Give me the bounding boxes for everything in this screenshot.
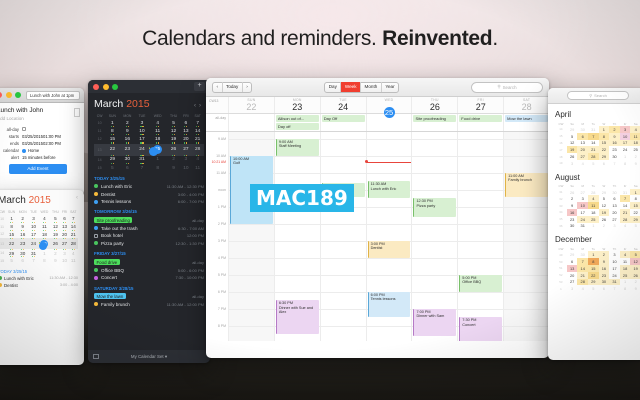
day-cell[interactable]: 1 — [620, 153, 631, 160]
day-cell[interactable]: 16 — [17, 231, 29, 239]
day-column[interactable]: 11:30 AMLunch with Eric3:00 PMDentist6:0… — [366, 132, 412, 341]
add-event-icon[interactable]: + — [194, 82, 205, 91]
day-cell[interactable]: 3 — [567, 285, 578, 292]
day-columns[interactable]: 10:00 AMGolf9:00 AMStaff Meeting6:30 PMD… — [228, 132, 549, 341]
day-cell[interactable]: 7 — [609, 285, 620, 292]
today-button[interactable]: Today — [222, 82, 242, 92]
day-cell[interactable]: 26 — [50, 238, 60, 249]
day-cell[interactable]: 13 — [609, 202, 620, 209]
day-cell[interactable]: 18 — [588, 209, 599, 216]
day-cell[interactable]: 24 — [609, 272, 620, 279]
list-item[interactable]: Take out the trash6:30 - 7:00 AM — [88, 225, 210, 233]
year-month-grid[interactable]: CWSuMTuWThFrSa49293012345506789101112511… — [555, 246, 640, 292]
list-item[interactable]: Office BBQ5:00 - 6:00 PM — [88, 266, 210, 274]
end-date-value[interactable]: 03/25/2015 — [22, 141, 43, 146]
day-cell[interactable]: 20 — [180, 135, 191, 143]
day-cell[interactable]: 31 — [588, 126, 599, 133]
allday-cell[interactable]: Food drive — [457, 114, 503, 131]
allday-event[interactable]: Day Off — [322, 115, 365, 122]
day-cell[interactable]: 22 — [599, 146, 610, 153]
day-cell[interactable]: 23 — [119, 144, 135, 156]
year-month-grid[interactable]: CWSuMTuWThFrSa14293031123415567891011161… — [555, 121, 640, 167]
allday-cell[interactable]: Day Off — [320, 114, 366, 131]
year-search-input[interactable]: ⚲ Search — [567, 91, 629, 100]
day-cell[interactable]: 31 — [135, 156, 149, 164]
day-cell[interactable]: 30 — [609, 189, 620, 196]
day-cell[interactable]: 10 — [180, 164, 191, 172]
day-cell[interactable]: 15 — [105, 135, 119, 143]
list-item[interactable]: Concert7:30 - 10:00 PM — [88, 274, 210, 282]
day-cell[interactable]: 15 — [588, 265, 599, 272]
main-calendar-window[interactable]: ‹ Today › DayWeekMonthYear ⚲ Search CW13… — [206, 78, 549, 358]
view-tab-month[interactable]: Month — [360, 82, 381, 92]
calendar-event[interactable]: 6:30 PMDinner with Sue and Alex — [276, 300, 319, 334]
allday-event[interactable]: Day off — [276, 123, 319, 130]
day-cell[interactable]: 8 — [149, 164, 167, 172]
mini-month-grid[interactable]: CWSUNMONTUEWEDTHUFRISAT10123456711891011… — [0, 209, 78, 265]
list-item[interactable]: Lunch with Eric 11:30 AM - 12:30 — [0, 275, 84, 282]
mini-calendar-window[interactable]: March 2015 ‹ CWSUNMONTUEWEDTHUFRISAT1012… — [0, 190, 84, 365]
dark-calendar-window[interactable]: + March 2015 ‹› CWSUNMONTUEWEDTHUFRISAT1… — [88, 80, 210, 363]
add-event-button[interactable]: Add Event — [9, 164, 67, 174]
calendar-event[interactable]: 5:00 PMOffice BBQ — [459, 275, 502, 292]
day-cell[interactable]: 26 — [567, 189, 578, 196]
all-day-row[interactable]: all-dayAllison out of...Day offDay OffSi… — [206, 114, 549, 132]
field-alert[interactable]: alert 15 minutes before — [0, 155, 79, 160]
minimize-icon[interactable] — [6, 92, 12, 98]
day-cell[interactable]: 21 — [588, 146, 599, 153]
day-cell[interactable]: 19 — [167, 135, 181, 143]
day-cell[interactable]: 29 — [105, 156, 119, 164]
day-cell[interactable]: 17 — [577, 209, 588, 216]
day-cell[interactable]: 29 — [588, 279, 599, 286]
calendar-event[interactable]: 11:00 AMFamily brunch — [505, 173, 548, 197]
day-cell[interactable]: 11 — [588, 202, 599, 209]
allday-cell[interactable] — [228, 114, 274, 131]
day-cell[interactable]: 11 — [630, 133, 640, 140]
day-cell[interactable]: 2 — [630, 153, 640, 160]
day-cell[interactable]: 5 — [630, 251, 640, 258]
day-cell[interactable]: 14 — [191, 127, 204, 135]
maximize-icon[interactable] — [15, 92, 21, 98]
day-cell[interactable]: 2 — [50, 249, 60, 257]
day-cell[interactable]: 11 — [69, 257, 78, 265]
close-icon[interactable] — [0, 92, 2, 98]
day-cell[interactable]: 16 — [599, 265, 610, 272]
day-cell[interactable]: 25 — [588, 216, 599, 223]
day-cell[interactable]: 3 — [29, 215, 39, 223]
day-cell[interactable]: 12 — [167, 127, 181, 135]
day-cell[interactable]: 9 — [17, 223, 29, 231]
allday-cell[interactable] — [366, 114, 412, 131]
day-cell[interactable]: 25 — [620, 272, 631, 279]
day-cell[interactable]: 22 — [6, 238, 17, 249]
today-navigation-group[interactable]: ‹ Today › — [212, 82, 252, 93]
day-cell[interactable]: 21 — [69, 231, 78, 239]
day-cell[interactable]: 10 — [29, 223, 39, 231]
quick-event-window[interactable]: Lunch with John at 1pm Lunch with John A… — [0, 88, 84, 196]
day-cell[interactable]: 17 — [135, 135, 149, 143]
calendar-event[interactable]: 7:30 PMConcert — [459, 317, 502, 341]
day-cell[interactable]: 14 — [69, 223, 78, 231]
view-tab-day[interactable]: Day — [325, 82, 340, 92]
day-cell[interactable]: 10 — [61, 257, 69, 265]
day-cell[interactable]: 2 — [17, 215, 29, 223]
day-cell[interactable]: 21 — [620, 209, 631, 216]
day-cell[interactable]: 6 — [577, 133, 588, 140]
day-column[interactable]: 11:00 AMFamily brunch — [503, 132, 549, 341]
day-column[interactable]: 5:00 PMOffice BBQ7:30 PMConcert — [457, 132, 503, 341]
search-input[interactable]: ⚲ Search — [471, 82, 543, 93]
day-cell[interactable]: 8 — [39, 257, 51, 265]
day-cell[interactable]: 25 — [149, 144, 167, 156]
day-cell[interactable]: 15 — [599, 140, 610, 147]
day-cell[interactable]: 6 — [17, 257, 29, 265]
day-cell[interactable]: 27 — [609, 216, 620, 223]
day-cell[interactable]: 3 — [567, 160, 578, 167]
day-cell[interactable]: 24 — [29, 238, 39, 249]
day-cell[interactable]: 3 — [577, 195, 588, 202]
day-cell[interactable]: 4 — [69, 249, 78, 257]
day-cell[interactable]: 4 — [577, 285, 588, 292]
day-cell[interactable]: 9 — [630, 160, 640, 167]
calendar-event[interactable]: 9:00 AMStaff Meeting — [276, 139, 319, 156]
day-cell[interactable]: 4 — [191, 156, 204, 164]
maximize-icon[interactable] — [112, 84, 118, 90]
day-cell[interactable]: 28 — [620, 216, 631, 223]
day-cell[interactable]: 30 — [577, 126, 588, 133]
day-cell[interactable]: 4 — [577, 160, 588, 167]
day-cell[interactable]: 23 — [599, 272, 610, 279]
day-cell[interactable]: 30 — [119, 156, 135, 164]
day-cell[interactable]: 18 — [149, 135, 167, 143]
day-cell[interactable]: 21 — [577, 272, 588, 279]
day-cell[interactable]: 9 — [609, 133, 620, 140]
day-cell[interactable]: 22 — [105, 144, 119, 156]
end-time-value[interactable]: 02:00 PM — [43, 141, 61, 146]
day-cell[interactable]: 1 — [6, 215, 17, 223]
year-months-list[interactable]: April CWSuMTuWThFrSa14293031123415567891… — [548, 104, 640, 292]
day-cell[interactable]: 9 — [167, 164, 181, 172]
day-cell[interactable]: 1 — [620, 279, 631, 286]
next-button[interactable]: › — [242, 82, 252, 92]
day-cell[interactable]: 5 — [588, 160, 599, 167]
day-cell[interactable]: 9 — [599, 258, 610, 265]
day-cell[interactable]: 5 — [599, 195, 610, 202]
day-cell[interactable]: 2 — [609, 126, 620, 133]
day-cell[interactable]: 8 — [105, 127, 119, 135]
day-cell[interactable]: 5 — [630, 223, 640, 230]
day-cell[interactable]: 1 — [588, 223, 599, 230]
day-cell[interactable]: 12 — [599, 202, 610, 209]
day-cell[interactable]: 31 — [620, 189, 631, 196]
day-header-cell[interactable]: MON 23 — [274, 97, 320, 113]
day-cell[interactable]: 29 — [567, 126, 578, 133]
day-cell[interactable]: 29 — [567, 251, 578, 258]
day-cell[interactable]: 5 — [567, 133, 578, 140]
day-cell[interactable]: 7 — [29, 257, 39, 265]
day-cell[interactable]: 23 — [567, 216, 578, 223]
day-cell[interactable]: 11 — [191, 164, 204, 172]
day-cell[interactable]: 10 — [620, 133, 631, 140]
day-cell[interactable]: 31 — [29, 249, 39, 257]
day-cell[interactable]: 8 — [599, 133, 610, 140]
day-cell[interactable]: 8 — [620, 285, 631, 292]
day-cell[interactable]: 2 — [599, 251, 610, 258]
day-header-cell[interactable]: SUN 22 — [228, 97, 274, 113]
day-cell[interactable]: 4 — [39, 215, 51, 223]
day-cell[interactable]: 16 — [609, 140, 620, 147]
allday-checkbox[interactable] — [22, 127, 26, 131]
day-cell[interactable]: 4 — [630, 126, 640, 133]
list-item[interactable]: Pizza party12:30 - 1:30 PM — [88, 240, 210, 248]
day-cell[interactable]: 7 — [588, 133, 599, 140]
day-cell[interactable]: 1 — [105, 119, 119, 127]
day-cell[interactable]: 5 — [167, 119, 181, 127]
day-cell[interactable]: 3 — [609, 251, 620, 258]
calendar-set-icon[interactable] — [93, 354, 99, 359]
day-cell[interactable]: 16 — [567, 209, 578, 216]
day-cell[interactable]: 6 — [609, 195, 620, 202]
day-cell[interactable]: 9 — [119, 127, 135, 135]
day-cell[interactable]: 12 — [50, 223, 60, 231]
day-cell[interactable]: 16 — [119, 135, 135, 143]
day-cell[interactable]: 23 — [609, 146, 620, 153]
quick-event-input[interactable]: Lunch with John at 1pm — [26, 91, 80, 100]
day-cell[interactable]: 2 — [567, 195, 578, 202]
day-cell[interactable]: 13 — [577, 140, 588, 147]
day-cell[interactable]: 5 — [105, 164, 119, 172]
day-cell[interactable]: 25 — [630, 146, 640, 153]
month-nav-arrows[interactable]: ‹› — [194, 103, 204, 109]
year-view-window[interactable]: ⚲ Search April CWSuMTuWThFrSa14293031123… — [548, 88, 640, 360]
day-cell[interactable]: 19 — [50, 231, 60, 239]
day-cell[interactable]: 7 — [577, 258, 588, 265]
day-cell[interactable]: 11 — [39, 223, 51, 231]
resize-handle-icon[interactable] — [74, 108, 80, 117]
day-cell[interactable]: 5 — [50, 215, 60, 223]
day-cell[interactable]: 20 — [567, 272, 578, 279]
alert-value[interactable]: 15 minutes before — [22, 155, 56, 160]
day-cell[interactable]: 24 — [135, 144, 149, 156]
day-cell[interactable]: 30 — [577, 251, 588, 258]
day-cell[interactable]: 24 — [577, 216, 588, 223]
day-cell[interactable]: 7 — [620, 195, 631, 202]
allday-event[interactable]: Mow the lawn — [505, 115, 548, 122]
view-tab-year[interactable]: Year — [381, 82, 398, 92]
day-cell[interactable]: 15 — [630, 202, 640, 209]
day-cell[interactable]: 13 — [61, 223, 69, 231]
start-date-value[interactable]: 03/25/2015 — [22, 134, 43, 139]
field-starts[interactable]: starts 03/25/2015 01:00 PM — [0, 134, 79, 139]
day-cell[interactable]: 29 — [6, 249, 17, 257]
day-cell[interactable]: 28 — [588, 189, 599, 196]
day-column[interactable]: 9:00 AMStaff Meeting6:30 PMDinner with S… — [274, 132, 320, 341]
day-cell[interactable]: 14 — [620, 202, 631, 209]
day-cell[interactable]: 26 — [167, 144, 181, 156]
day-cell[interactable]: 9 — [50, 257, 60, 265]
day-cell[interactable]: 13 — [180, 127, 191, 135]
list-item[interactable]: Dentist 3:00 - 4:00 — [0, 282, 84, 289]
prev-button[interactable]: ‹ — [213, 82, 222, 92]
day-cell[interactable]: 13 — [567, 265, 578, 272]
day-cell[interactable]: 1 — [149, 156, 167, 164]
day-column[interactable]: Interview with... — [320, 132, 366, 341]
allday-cell[interactable]: Allison out of...Day off — [274, 114, 320, 131]
day-cell[interactable]: 2 — [167, 156, 181, 164]
day-cell[interactable]: 19 — [599, 209, 610, 216]
allday-event[interactable]: Food drive — [459, 115, 502, 122]
day-cell[interactable]: 31 — [577, 223, 588, 230]
field-ends[interactable]: ends 03/25/2015 02:00 PM — [0, 141, 79, 146]
day-cell[interactable]: 3 — [180, 156, 191, 164]
day-cell[interactable]: 20 — [61, 231, 69, 239]
day-cell[interactable]: 4 — [149, 119, 167, 127]
day-cell[interactable]: 6 — [180, 119, 191, 127]
calendar-event[interactable]: 6:00 PMTennis lessons — [368, 292, 411, 317]
minimize-icon[interactable] — [103, 84, 109, 90]
view-tab-week[interactable]: Week — [340, 82, 360, 92]
day-cell[interactable]: 1 — [39, 249, 51, 257]
calendar-event[interactable]: 12:30 PMPizza party — [413, 198, 456, 217]
day-cell[interactable]: 26 — [567, 153, 578, 160]
day-cell[interactable]: 27 — [577, 153, 588, 160]
close-icon[interactable] — [93, 84, 99, 90]
day-cell[interactable]: 21 — [191, 135, 204, 143]
day-cell[interactable]: 17 — [29, 231, 39, 239]
day-cell[interactable]: 20 — [609, 209, 620, 216]
day-cell[interactable]: 3 — [609, 223, 620, 230]
day-cell[interactable]: 9 — [567, 202, 578, 209]
day-cell[interactable]: 30 — [567, 223, 578, 230]
day-header-cell[interactable]: TUE 24 — [320, 97, 366, 113]
day-column[interactable]: 10:00 AMGolf — [228, 132, 274, 341]
day-column[interactable]: 12:30 PMPizza party7:00 PMDinner with Sa… — [411, 132, 457, 341]
day-cell[interactable]: 19 — [567, 146, 578, 153]
day-cell[interactable]: 28 — [577, 279, 588, 286]
day-cell[interactable]: 18 — [39, 231, 51, 239]
day-cell[interactable]: 28 — [588, 153, 599, 160]
window-controls[interactable] — [93, 84, 118, 90]
day-cell[interactable]: 6 — [567, 258, 578, 265]
day-cell[interactable]: 22 — [630, 209, 640, 216]
day-cell[interactable]: 17 — [609, 265, 620, 272]
day-cell[interactable]: 4 — [620, 251, 631, 258]
day-cell[interactable]: 6 — [599, 285, 610, 292]
day-header-cell[interactable]: FRI 27 — [457, 97, 503, 113]
day-cell[interactable]: 6 — [599, 160, 610, 167]
list-item[interactable]: Family brunch11:30 AM - 12:00 PM — [88, 301, 210, 309]
day-header-cell[interactable]: WED 25 — [366, 97, 412, 113]
day-cell[interactable]: 30 — [599, 279, 610, 286]
day-cell[interactable]: 24 — [620, 146, 631, 153]
day-cell[interactable]: 27 — [577, 189, 588, 196]
view-switcher[interactable]: DayWeekMonthYear — [324, 82, 399, 93]
day-cell[interactable]: 27 — [180, 144, 191, 156]
day-header-cell[interactable]: SAT 28 — [503, 97, 549, 113]
day-cell[interactable]: 2 — [599, 223, 610, 230]
calendar-event[interactable]: 3:00 PMDentist — [368, 241, 411, 258]
day-cell[interactable]: 22 — [588, 272, 599, 279]
list-item[interactable]: Mow the lawnall-day — [88, 292, 210, 301]
day-cell[interactable]: 28 — [191, 144, 204, 156]
day-cell[interactable]: 3 — [620, 126, 631, 133]
day-cell[interactable]: 6 — [61, 215, 69, 223]
day-cell[interactable]: 26 — [630, 272, 640, 279]
day-cell[interactable]: 23 — [17, 238, 29, 249]
day-cell[interactable]: 10 — [135, 127, 149, 135]
year-month-grid[interactable]: CWSuMTuWThFrSa31262728293031132234567833… — [555, 184, 640, 230]
day-cell[interactable]: 1 — [599, 126, 610, 133]
day-cell[interactable]: 10 — [577, 202, 588, 209]
field-allday[interactable]: all-day — [0, 127, 79, 132]
day-cell[interactable]: 4 — [588, 195, 599, 202]
day-cell[interactable]: 18 — [620, 265, 631, 272]
allday-event[interactable]: Site proofreading — [413, 115, 456, 122]
allday-cell[interactable]: Site proofreading — [411, 114, 457, 131]
day-cell[interactable]: 7 — [135, 164, 149, 172]
dark-month-grid[interactable]: CWSUNMONTUEWEDTHUFRISAT10123456711891011… — [94, 113, 204, 172]
list-item[interactable]: Dentist3:00 - 4:00 PM — [88, 190, 210, 198]
day-cell[interactable]: 8 — [630, 195, 640, 202]
day-cell[interactable]: 12 — [630, 258, 640, 265]
day-cell[interactable]: 11 — [149, 127, 167, 135]
day-cell[interactable]: 28 — [69, 238, 78, 249]
list-item[interactable]: Tennis lessons6:00 - 7:00 PM — [88, 198, 210, 206]
day-cell[interactable]: 29 — [599, 189, 610, 196]
day-cell[interactable]: 2 — [630, 279, 640, 286]
day-header-cell[interactable]: THU 26 — [411, 97, 457, 113]
day-cell[interactable]: 11 — [620, 258, 631, 265]
day-cell[interactable]: 8 — [6, 223, 17, 231]
dark-footer[interactable]: My Calendar Set ▾ — [88, 350, 210, 363]
day-cell[interactable]: 14 — [588, 140, 599, 147]
day-cell[interactable]: 3 — [61, 249, 69, 257]
day-cell[interactable]: 12 — [567, 140, 578, 147]
day-cell[interactable]: 1 — [630, 189, 640, 196]
day-cell[interactable]: 30 — [609, 153, 620, 160]
allday-event[interactable]: Allison out of... — [276, 115, 319, 122]
list-item[interactable]: Food driveall-day — [88, 258, 210, 267]
field-calendar[interactable]: calendar Home — [0, 148, 79, 153]
day-cell[interactable]: 3 — [135, 119, 149, 127]
day-cell[interactable]: 4 — [620, 223, 631, 230]
day-cell[interactable]: 7 — [191, 119, 204, 127]
day-cell[interactable]: 29 — [630, 216, 640, 223]
day-cell[interactable]: 5 — [6, 257, 17, 265]
day-cell[interactable]: 17 — [620, 140, 631, 147]
calendar-event[interactable]: 7:00 PMDinner with Sam — [413, 309, 456, 336]
day-cell[interactable]: 10 — [609, 258, 620, 265]
day-cell[interactable]: 31 — [609, 279, 620, 286]
day-cell[interactable]: 9 — [630, 285, 640, 292]
day-cell[interactable]: 7 — [69, 215, 78, 223]
day-cell[interactable]: 29 — [599, 153, 610, 160]
day-cell[interactable]: 5 — [588, 285, 599, 292]
day-cell[interactable]: 19 — [630, 265, 640, 272]
event-checkbox[interactable] — [94, 234, 98, 238]
day-cell[interactable]: 1 — [588, 251, 599, 258]
day-cell[interactable]: 25 — [39, 238, 51, 249]
day-cell[interactable]: 20 — [577, 146, 588, 153]
list-item[interactable]: Book hotel12:00 PM — [88, 232, 210, 240]
day-cell[interactable]: 27 — [61, 238, 69, 249]
day-cell[interactable]: 26 — [599, 216, 610, 223]
day-cell[interactable]: 18 — [630, 140, 640, 147]
day-cell[interactable]: 2 — [119, 119, 135, 127]
list-item[interactable]: Lunch with Eric11:30 AM - 12:30 PM — [88, 183, 210, 191]
window-controls[interactable] — [0, 92, 21, 98]
